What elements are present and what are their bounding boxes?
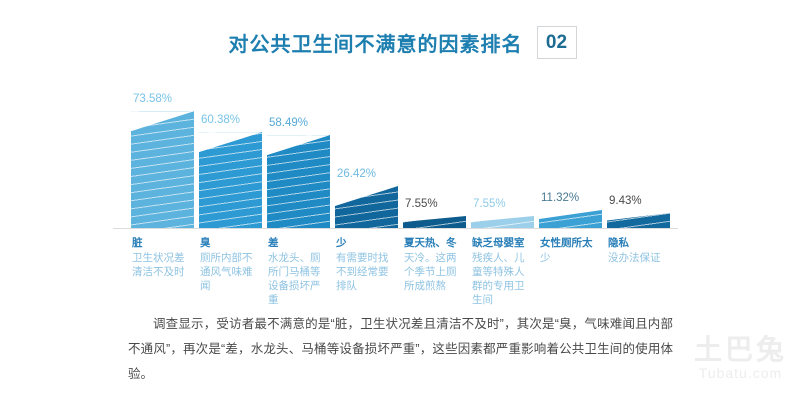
page-title-row: 对公共卫生间不满意的因素排名 02: [0, 26, 805, 59]
category-label-desc: 水龙头、厕所门马桶等设备损坏严重: [268, 251, 326, 307]
category-label-desc: 残疾人、儿童等特殊人群的专用卫生间: [472, 251, 530, 307]
category-label-desc: 少: [540, 251, 598, 265]
watermark: 土巴兔 Tubatu.com: [694, 335, 787, 381]
category-label: 缺乏母婴室残疾人、儿童等特殊人群的专用卫生间: [472, 236, 530, 307]
chart-bar: [539, 210, 602, 228]
chart-bar: [607, 213, 670, 228]
bar-value-label: 7.55%: [405, 198, 438, 210]
bar-value-label: 26.42%: [337, 168, 376, 180]
bar-value-label: 7.55%: [473, 198, 506, 210]
section-number-badge: 02: [537, 26, 577, 59]
category-label-head: 女性厕所太: [540, 236, 598, 250]
category-label-desc: 有需要时找不到经常要排队: [336, 251, 394, 293]
category-label: 隐私没办法保证: [608, 236, 666, 265]
watermark-cn: 土巴兔: [694, 335, 787, 365]
category-label-desc: 天冷。这两个季节上厕所成煎熬: [404, 251, 462, 293]
category-label-desc: 卫生状况差清洁不及时: [132, 251, 190, 279]
summary-paragraph: 调查显示，受访者最不满意的是“脏，卫生状况差且清洁不及时”，其次是“臭，气味难闻…: [128, 312, 673, 387]
category-label-head: 差: [268, 236, 326, 250]
category-label-desc: 厕所内部不通风气味难闻: [200, 251, 258, 293]
chart-bar: [471, 216, 534, 228]
category-label-head: 脏: [132, 236, 190, 250]
chart-bar: [131, 111, 194, 228]
chart-bar: [403, 216, 466, 228]
chart-bar: [199, 132, 262, 228]
category-label-head: 臭: [200, 236, 258, 250]
category-label: 脏卫生状况差清洁不及时: [132, 236, 190, 279]
bar-value-label: 73.58%: [133, 93, 172, 105]
chart-bar: [267, 135, 330, 228]
bar-chart: [0, 82, 805, 232]
page-title: 对公共卫生间不满意的因素排名: [229, 28, 523, 57]
chart-baseline: [113, 228, 678, 229]
chart-bar: [335, 186, 398, 228]
bar-value-label: 60.38%: [201, 114, 240, 126]
category-label-desc: 没办法保证: [608, 251, 666, 265]
category-label-head: 缺乏母婴室: [472, 236, 530, 250]
category-label-head: 隐私: [608, 236, 666, 250]
bar-value-label: 11.32%: [541, 192, 579, 204]
category-label: 差水龙头、厕所门马桶等设备损坏严重: [268, 236, 326, 307]
bar-value-label: 58.49%: [269, 117, 308, 129]
bar-value-label: 9.43%: [609, 195, 642, 207]
category-label: 臭厕所内部不通风气味难闻: [200, 236, 258, 293]
category-label: 夏天热、冬天冷。这两个季节上厕所成煎熬: [404, 236, 462, 293]
category-label: 少有需要时找不到经常要排队: [336, 236, 394, 293]
category-label: 女性厕所太少: [540, 236, 598, 265]
watermark-en: Tubatu.com: [694, 365, 787, 381]
category-label-head: 少: [336, 236, 394, 250]
category-label-head: 夏天热、冬: [404, 236, 462, 250]
